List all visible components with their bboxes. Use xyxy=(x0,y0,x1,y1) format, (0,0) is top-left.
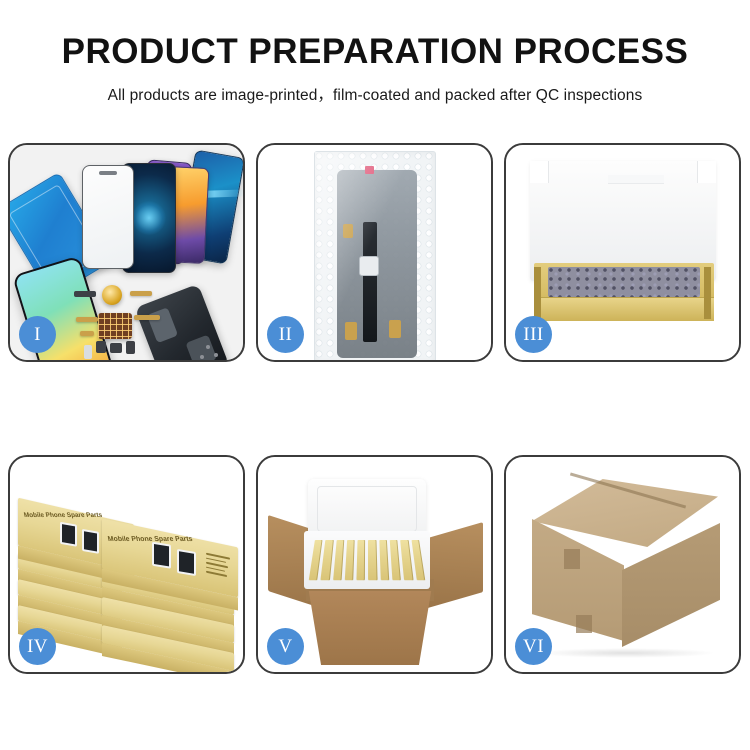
page-subtitle: All products are image-printed，film-coat… xyxy=(0,83,750,105)
step-badge-2: II xyxy=(267,316,304,353)
screw xyxy=(214,353,218,357)
spare-chip xyxy=(110,343,122,353)
screen-protector-glass xyxy=(82,165,134,269)
step-panel-6: VI xyxy=(504,455,741,674)
product-preparation-infographic: PRODUCT PREPARATION PROCESS All products… xyxy=(0,0,750,750)
step-badge-3: III xyxy=(515,316,552,353)
tray-edge-left xyxy=(534,267,541,319)
header: PRODUCT PREPARATION PROCESS All products… xyxy=(0,0,750,105)
carton-shadow xyxy=(536,648,716,658)
step-badge-4: IV xyxy=(19,628,56,665)
screw xyxy=(200,355,204,359)
flex-cable xyxy=(76,317,98,322)
box-art-screen xyxy=(177,549,196,576)
spare-chip xyxy=(84,345,92,359)
flex-cable xyxy=(80,331,94,336)
retail-box-printed: Mobile Phone Spare Parts xyxy=(102,519,238,598)
spare-chip xyxy=(96,341,106,353)
gold-coil-part xyxy=(102,285,122,305)
page-title: PRODUCT PREPARATION PROCESS xyxy=(0,34,750,71)
box-art-screen xyxy=(82,529,99,554)
kraft-box-front xyxy=(534,297,714,321)
step-panel-1: I xyxy=(8,143,245,362)
step-panel-2: II xyxy=(256,143,493,362)
gold-contact xyxy=(389,320,401,338)
flex-cable xyxy=(130,291,152,296)
spare-chip xyxy=(74,291,96,297)
lcd-flex-cable xyxy=(363,222,377,342)
flex-cable xyxy=(134,315,160,320)
carton-tape-mark xyxy=(576,615,592,633)
process-step-grid: I II xyxy=(8,143,742,682)
lcd-connector xyxy=(359,256,379,276)
packed-retail-boxes xyxy=(309,540,426,580)
gold-contact xyxy=(345,322,357,340)
carton-tape-mark xyxy=(564,549,580,569)
carton-front-wall xyxy=(302,591,438,665)
box-spec-lines xyxy=(206,553,230,581)
lid-notch xyxy=(608,175,664,184)
gold-contact xyxy=(343,224,353,238)
step-panel-3: III xyxy=(504,143,741,362)
box-art-screen xyxy=(60,522,77,547)
foam-padding xyxy=(548,267,700,297)
tray-edge-right xyxy=(704,267,711,319)
step-badge-6: VI xyxy=(515,628,552,665)
retail-box-label: Mobile Phone Spare Parts xyxy=(23,512,103,519)
retail-box-label: Mobile Phone Spare Parts xyxy=(107,536,193,543)
pink-label-tab xyxy=(365,166,374,174)
step-panel-4: Mobile Phone Spare Parts Mobile Phone Sp… xyxy=(8,455,245,674)
screw xyxy=(206,345,210,349)
step-badge-5: V xyxy=(267,628,304,665)
bubble-wrap-bag xyxy=(314,151,436,360)
box-art-screen xyxy=(152,542,171,569)
step-badge-1: I xyxy=(19,316,56,353)
spare-chip xyxy=(126,341,135,354)
chip-grid-part xyxy=(98,313,132,339)
step-panel-5: V xyxy=(256,455,493,674)
